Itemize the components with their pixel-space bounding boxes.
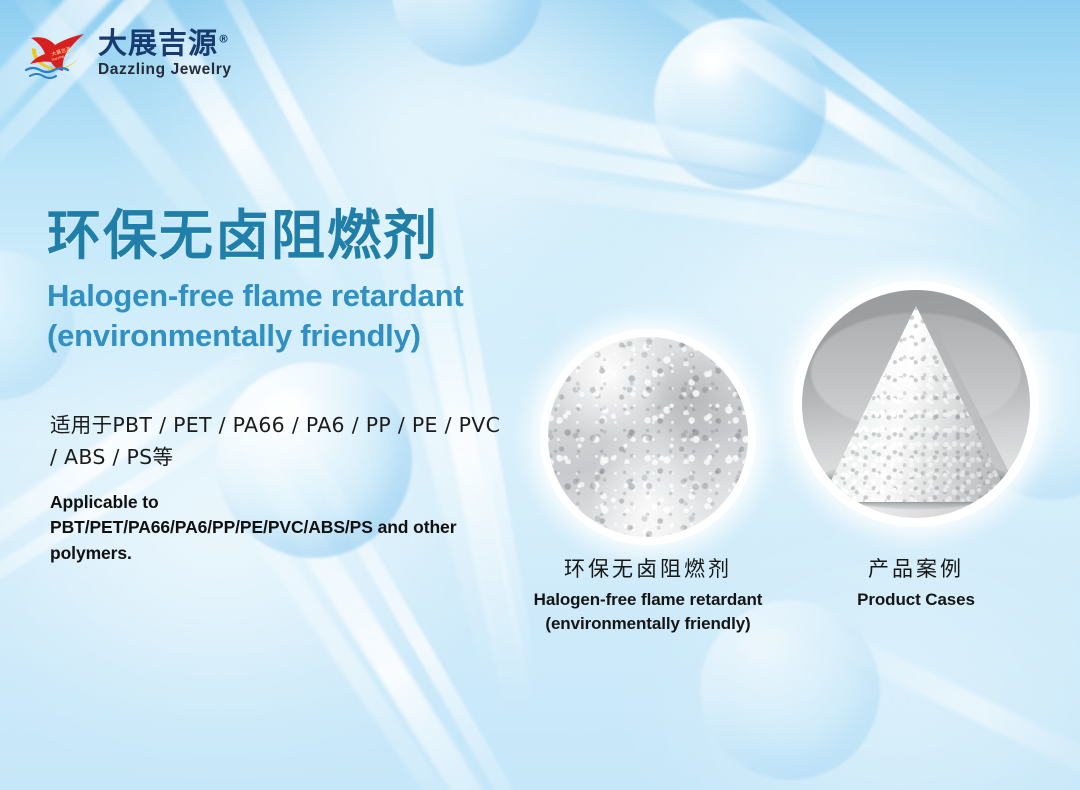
product-caption-2: 产品案例 Product Cases xyxy=(796,556,1036,612)
headline-title-cn: 环保无卤阻燃剂 xyxy=(47,206,587,266)
applicability-en-line-1: Applicable to xyxy=(50,490,550,516)
headline-block: 环保无卤阻燃剂 Halogen-free flame retardant (en… xyxy=(47,206,587,356)
headline-title-en: Halogen-free flame retardant (environmen… xyxy=(47,276,587,355)
product-caption-1: 环保无卤阻燃剂 Halogen-free flame retardant (en… xyxy=(488,556,808,637)
product-image-circle-2[interactable] xyxy=(793,281,1039,527)
molecule-sphere xyxy=(654,18,826,190)
promo-banner: 大展吉源 Dazzling Jewelry 大展吉源® Dazzling Jew… xyxy=(0,0,1080,790)
applicability-cn-line-1: 适用于PBT / PET / PA66 / PA6 / PP / PE / PV… xyxy=(50,410,550,442)
molecule-sphere xyxy=(392,0,542,66)
registered-trademark-icon: ® xyxy=(218,32,230,45)
caption-1-en: Halogen-free flame retardant (environmen… xyxy=(488,588,808,636)
white-powder-texture-photo xyxy=(548,337,748,537)
applicability-cn-line-2: / ABS / PS等 xyxy=(50,442,550,474)
brand-name-en: Dazzling Jewelry xyxy=(98,62,232,78)
caption-2-en-line-1: Product Cases xyxy=(796,588,1036,612)
applicability-block: 适用于PBT / PET / PA66 / PA6 / PP / PE / PV… xyxy=(50,410,550,567)
applicability-en-line-2: PBT/PET/PA66/PA6/PP/PE/PVC/ABS/PS and ot… xyxy=(50,515,550,541)
caption-1-en-line-2: (environmentally friendly) xyxy=(488,612,808,636)
caption-2-en: Product Cases xyxy=(796,588,1036,612)
applicability-cn: 适用于PBT / PET / PA66 / PA6 / PP / PE / PV… xyxy=(50,410,550,474)
brand-name-cn: 大展吉源® xyxy=(98,29,232,58)
caption-1-en-line-1: Halogen-free flame retardant xyxy=(488,588,808,612)
applicability-en: Applicable to PBT/PET/PA66/PA6/PP/PE/PVC… xyxy=(50,490,550,568)
brand-name-cn-text: 大展吉源 xyxy=(98,26,218,60)
powder-cone-on-dish-photo xyxy=(802,290,1030,518)
brand-logo[interactable]: 大展吉源 Dazzling Jewelry 大展吉源® Dazzling Jew… xyxy=(22,26,232,80)
applicability-en-line-3: polymers. xyxy=(50,541,550,567)
headline-en-line-2: (environmentally friendly) xyxy=(47,316,587,356)
caption-2-cn: 产品案例 xyxy=(796,556,1036,583)
product-image-circle-1[interactable] xyxy=(540,329,756,545)
headline-en-line-1: Halogen-free flame retardant xyxy=(47,276,587,316)
eagle-over-crescent-wave-icon: 大展吉源 Dazzling Jewelry xyxy=(22,26,90,80)
caption-1-cn: 环保无卤阻燃剂 xyxy=(488,556,808,583)
